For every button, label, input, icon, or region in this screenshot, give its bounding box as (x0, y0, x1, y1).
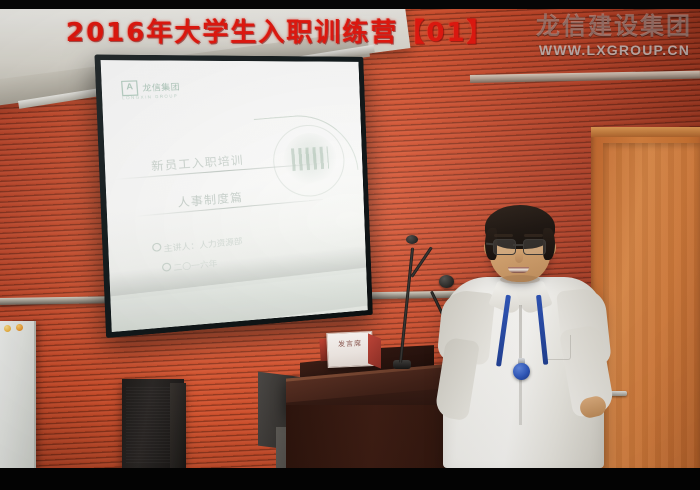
presenter-eyebrow-left (494, 234, 513, 237)
presenter-mouth (508, 267, 529, 273)
presenter-nose (515, 253, 523, 263)
letterbox-bottom-bar (0, 468, 700, 490)
letterbox-top-bar (0, 0, 700, 9)
glasses-lens-right-icon (523, 239, 546, 255)
presenter (0, 9, 700, 468)
presenter-chin-shadow (500, 275, 540, 284)
glasses-lens-left-icon (493, 239, 516, 255)
badge-reel-icon (513, 363, 530, 380)
glasses-bridge-icon (513, 244, 524, 246)
watermark-company-name: 龙信建设集团 (536, 6, 692, 41)
overlay-headline: 2016年大学生入职训练营【01】 (66, 12, 495, 49)
presenter-eyebrow-right (524, 234, 543, 237)
watermark-url: WWW.LXGROUP.CN (539, 42, 690, 58)
room-scene: A 龙信集团 LONGXIN GROUP 新员工入职培训 人事制度篇 主讲人：人… (0, 9, 700, 468)
photo-canvas: A 龙信集团 LONGXIN GROUP 新员工入职培训 人事制度篇 主讲人：人… (0, 0, 700, 490)
